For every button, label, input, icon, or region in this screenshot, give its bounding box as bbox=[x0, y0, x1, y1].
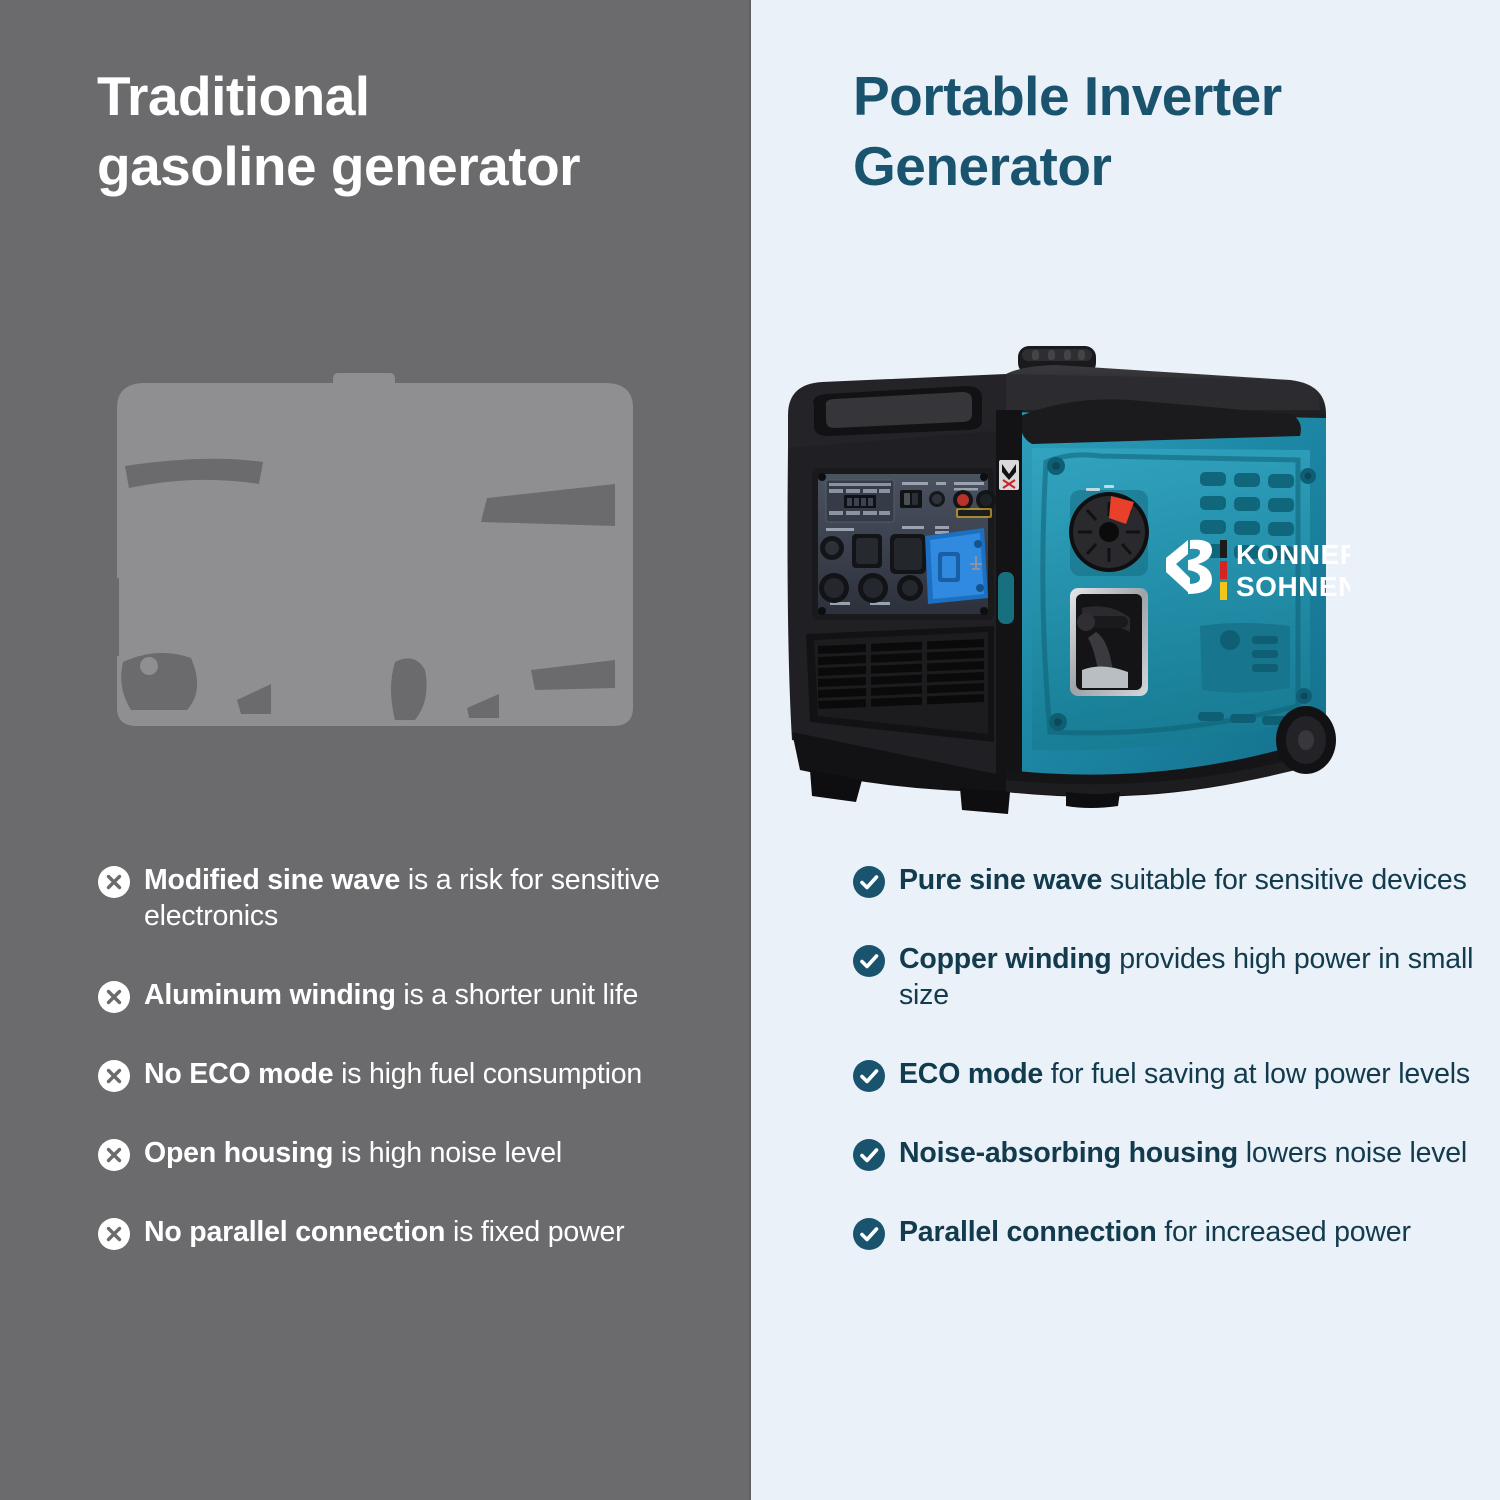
bullet-term: Noise-absorbing housing bbox=[899, 1137, 1238, 1169]
bullet-item: Modified sine wave is a risk for sensiti… bbox=[97, 862, 737, 935]
right-bullet-list: Pure sine wave suitable for sensitive de… bbox=[852, 862, 1477, 1251]
bullet-term: Aluminum winding bbox=[144, 979, 396, 1011]
right-title-line-1: Portable Inverter bbox=[853, 65, 1282, 127]
bullet-description: suitable for sensitive devices bbox=[1102, 864, 1466, 896]
bullet-item: Copper winding provides high power in sm… bbox=[852, 941, 1477, 1014]
right-panel-title: Portable InverterGenerator bbox=[853, 62, 1453, 202]
bullet-text: Aluminum winding is a shorter unit life bbox=[144, 977, 638, 1013]
bullet-text: Noise-absorbing housing lowers noise lev… bbox=[899, 1135, 1467, 1171]
left-title-line-2: gasoline generator bbox=[97, 135, 580, 197]
check-icon bbox=[852, 1059, 886, 1093]
bullet-description: is fixed power bbox=[445, 1216, 624, 1248]
comparison-infographic: Traditionalgasoline generator bbox=[0, 0, 1500, 1500]
bullet-description: is high noise level bbox=[333, 1137, 562, 1169]
traditional-generator-silhouette bbox=[95, 370, 655, 770]
bullet-item: Pure sine wave suitable for sensitive de… bbox=[852, 862, 1477, 899]
left-bullet-list: Modified sine wave is a risk for sensiti… bbox=[97, 862, 737, 1251]
left-panel-title: Traditionalgasoline generator bbox=[97, 62, 727, 202]
right-product-stage: KONNER SOHNEN bbox=[750, 330, 1500, 830]
bullet-text: Copper winding provides high power in sm… bbox=[899, 941, 1477, 1014]
right-title-line-2: Generator bbox=[853, 135, 1111, 197]
bullet-item: No parallel connection is fixed power bbox=[97, 1214, 737, 1251]
bullet-item: ECO mode for fuel saving at low power le… bbox=[852, 1056, 1477, 1093]
bullet-term: No parallel connection bbox=[144, 1216, 445, 1248]
panel-divider bbox=[749, 0, 751, 1500]
bullet-item: Aluminum winding is a shorter unit life bbox=[97, 977, 737, 1014]
cross-icon bbox=[97, 980, 131, 1014]
svg-text:KONNER: KONNER bbox=[1236, 539, 1350, 570]
bullet-item: No ECO mode is high fuel consumption bbox=[97, 1056, 737, 1093]
bullet-description: is high fuel consumption bbox=[333, 1058, 642, 1090]
left-title-line-1: Traditional bbox=[97, 65, 370, 127]
bullet-text: Open housing is high noise level bbox=[144, 1135, 562, 1171]
bullet-item: Noise-absorbing housing lowers noise lev… bbox=[852, 1135, 1477, 1172]
cross-icon bbox=[97, 1059, 131, 1093]
bullet-term: No ECO mode bbox=[144, 1058, 333, 1090]
inverter-generator-image: KONNER SOHNEN bbox=[770, 340, 1350, 830]
bullet-text: Modified sine wave is a risk for sensiti… bbox=[144, 862, 737, 935]
bullet-term: Parallel connection bbox=[899, 1216, 1157, 1248]
bullet-item: Open housing is high noise level bbox=[97, 1135, 737, 1172]
cross-icon bbox=[97, 1217, 131, 1251]
bullet-text: Parallel connection for increased power bbox=[899, 1214, 1411, 1250]
bullet-term: Modified sine wave bbox=[144, 864, 400, 896]
check-icon bbox=[852, 1217, 886, 1251]
bullet-term: Pure sine wave bbox=[899, 864, 1102, 896]
check-icon bbox=[852, 865, 886, 899]
right-panel-inverter-generator: Portable InverterGenerator bbox=[750, 0, 1500, 1500]
bullet-item: Parallel connection for increased power bbox=[852, 1214, 1477, 1251]
bullet-text: Pure sine wave suitable for sensitive de… bbox=[899, 862, 1467, 898]
bullet-description: is a shorter unit life bbox=[396, 979, 639, 1011]
bullet-text: No ECO mode is high fuel consumption bbox=[144, 1056, 642, 1092]
bullet-term: Open housing bbox=[144, 1137, 333, 1169]
bullet-term: ECO mode bbox=[899, 1058, 1043, 1090]
cross-icon bbox=[97, 865, 131, 899]
bullet-term: Copper winding bbox=[899, 943, 1112, 975]
check-icon bbox=[852, 1138, 886, 1172]
bullet-description: for increased power bbox=[1157, 1216, 1411, 1248]
left-panel-traditional-generator: Traditionalgasoline generator bbox=[0, 0, 750, 1500]
bullet-text: ECO mode for fuel saving at low power le… bbox=[899, 1056, 1470, 1092]
bullet-description: for fuel saving at low power levels bbox=[1043, 1058, 1470, 1090]
bullet-text: No parallel connection is fixed power bbox=[144, 1214, 624, 1250]
bullet-description: lowers noise level bbox=[1238, 1137, 1467, 1169]
svg-text:SOHNEN: SOHNEN bbox=[1236, 571, 1350, 602]
left-product-stage bbox=[0, 330, 750, 830]
check-icon bbox=[852, 944, 886, 978]
cross-icon bbox=[97, 1138, 131, 1172]
